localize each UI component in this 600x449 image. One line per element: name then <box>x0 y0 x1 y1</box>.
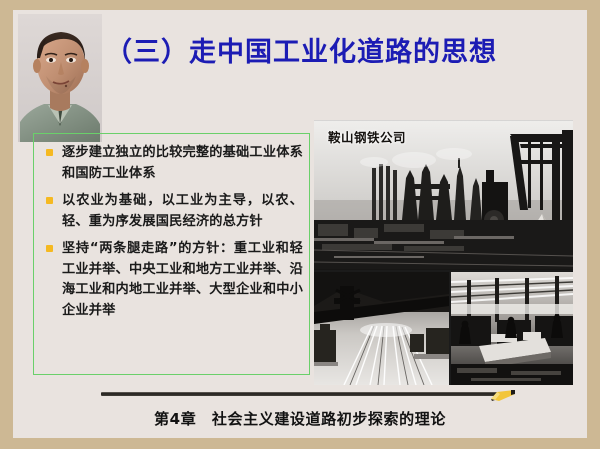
list-item: 逐步建立独立的比较完整的基础工业体系和国防工业体系 <box>38 143 303 184</box>
list-item-text: 以农业为基础，以工业为主导，以农、轻、重为序发展国民经济的总方针 <box>62 191 303 232</box>
list-item-text: 坚持“两条腿走路”的方针：重工业和轻工业并举、中央工业和地方工业并举、沿海工业和… <box>62 239 303 321</box>
list-item: 坚持“两条腿走路”的方针：重工业和轻工业并举、中央工业和地方工业并举、沿海工业和… <box>38 239 303 321</box>
bullet-list-box: 逐步建立独立的比较完整的基础工业体系和国防工业体系 以农业为基础，以工业为主导，… <box>33 133 310 375</box>
horizontal-rule <box>101 392 503 396</box>
page-title: （三）走中国工业化道路的思想 <box>105 36 575 70</box>
rolling-mill-interior-photo <box>314 272 449 385</box>
square-bullet-icon <box>46 245 53 252</box>
slide: （三）走中国工业化道路的思想 逐步建立独立的比较完整的基础工业体系和国防工业体系… <box>0 0 600 449</box>
list-item-text: 逐步建立独立的比较完整的基础工业体系和国防工业体系 <box>62 143 303 184</box>
list-item: 以农业为基础，以工业为主导，以农、轻、重为序发展国民经济的总方针 <box>38 191 303 232</box>
slide-content-area: （三）走中国工业化道路的思想 逐步建立独立的比较完整的基础工业体系和国防工业体系… <box>13 10 587 438</box>
pencil-icon <box>489 387 517 401</box>
mao-zedong-portrait <box>18 14 102 142</box>
square-bullet-icon <box>46 149 53 156</box>
photo-caption: 鞍山钢铁公司 <box>328 127 406 146</box>
square-bullet-icon <box>46 197 53 204</box>
photo-collage: 鞍山钢铁公司 <box>314 120 573 385</box>
factory-workshop-photo <box>451 272 573 385</box>
footer-chapter-title: 第4章 社会主义建设道路初步探索的理论 <box>13 408 587 429</box>
